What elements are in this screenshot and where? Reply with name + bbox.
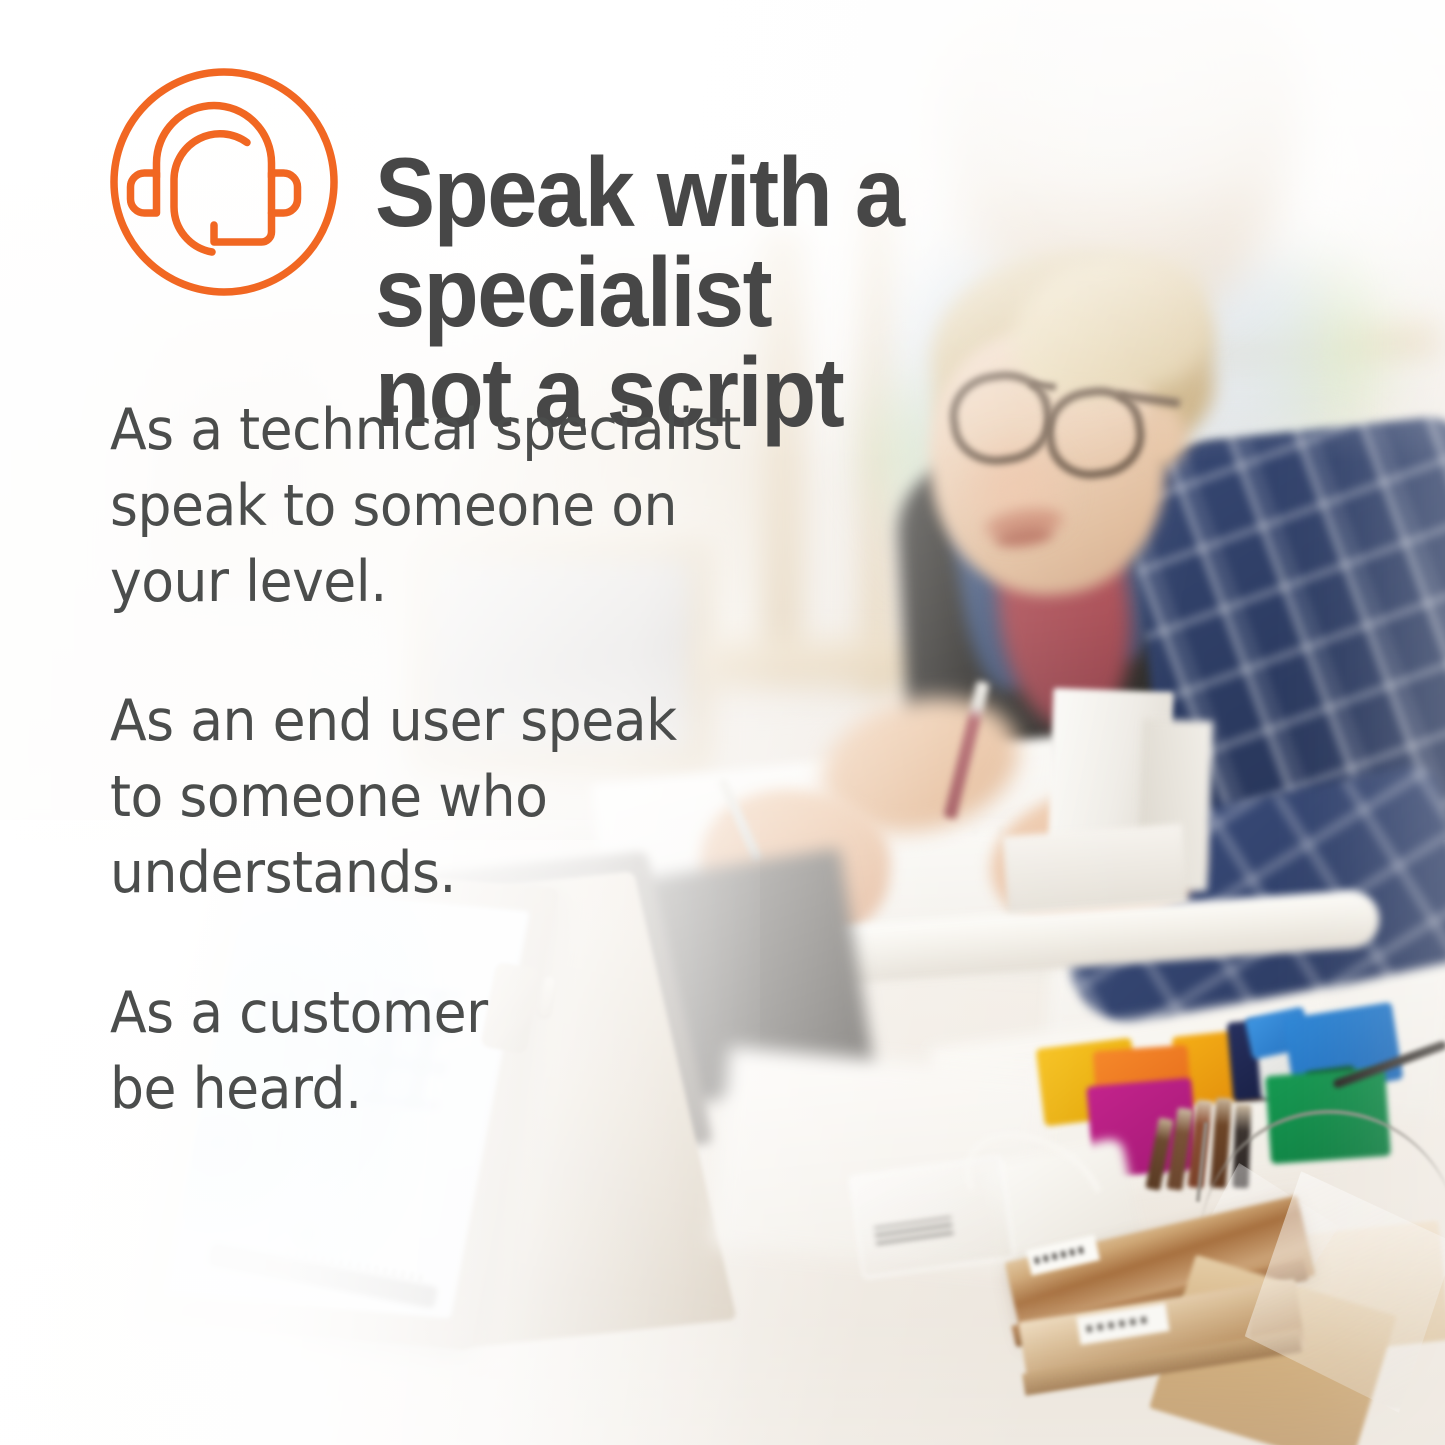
body-line: As a customer xyxy=(110,976,768,1052)
content-layer: Speak with a specialist not a script As … xyxy=(0,0,1445,1445)
body-paragraph-3: As a customer be heard. xyxy=(110,976,768,1128)
body-line: to someone who xyxy=(110,760,768,836)
headset-support-icon xyxy=(108,66,340,298)
body-line: be heard. xyxy=(110,1052,768,1128)
body-line: As an end user speak xyxy=(110,684,768,760)
body-line: As a technical specialist xyxy=(110,393,768,469)
body-line: your level. xyxy=(110,545,768,621)
body-paragraph-1: As a technical specialist speak to someo… xyxy=(110,393,768,620)
body-line: speak to someone on xyxy=(110,469,768,545)
marketing-banner: Speak with a specialist not a script As … xyxy=(0,0,1445,1445)
body-paragraph-2: As an end user speak to someone who unde… xyxy=(110,684,768,911)
body-copy: As a technical specialist speak to someo… xyxy=(110,393,810,1127)
body-line: understands. xyxy=(110,836,768,912)
headline-line-1: Speak with a specialist xyxy=(375,137,903,347)
